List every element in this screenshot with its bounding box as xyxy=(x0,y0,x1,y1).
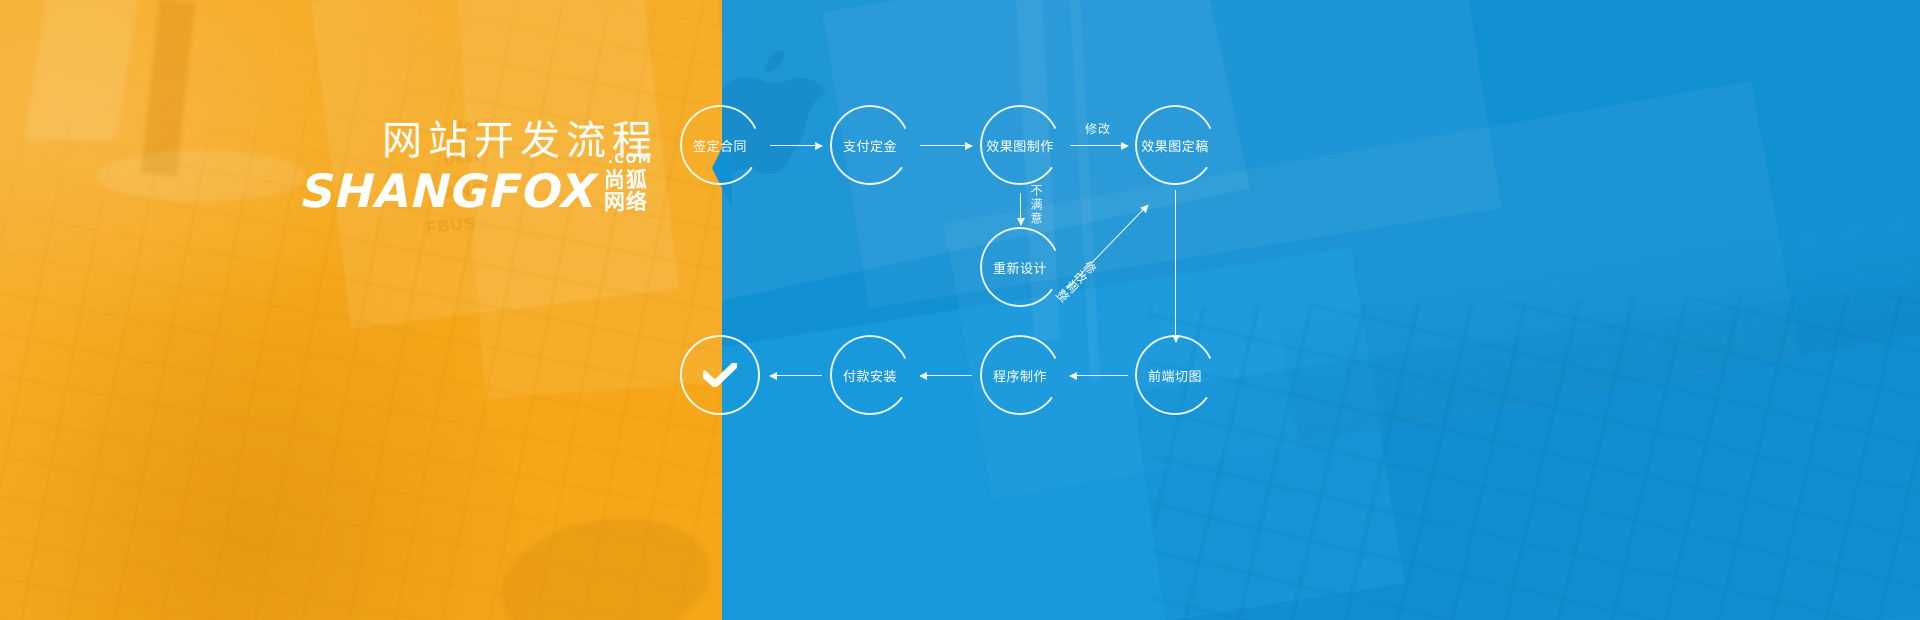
node-mockup-create[interactable]: 效果图制作 xyxy=(980,105,1060,185)
workflow-diagram: 签定合同 支付定金 效果图制作 效果图定稿 重新设计 前端切图 程序制作 xyxy=(722,0,1920,620)
node-label: 签定合同 xyxy=(693,136,747,155)
edge-label-modify: 修改 xyxy=(1085,120,1111,137)
arrow-contract-to-deposit xyxy=(770,145,822,146)
node-frontend-slice[interactable]: 前端切图 xyxy=(1135,335,1215,415)
node-label: 付款安装 xyxy=(843,366,897,385)
node-label: 重新设计 xyxy=(993,258,1047,277)
arrow-program-to-install xyxy=(920,375,972,376)
node-pay-install[interactable]: 付款安装 xyxy=(830,335,910,415)
arrow-mockup-to-final xyxy=(1070,145,1128,146)
arrow-frontend-to-program xyxy=(1070,375,1128,376)
node-sign-contract[interactable]: 签定合同 xyxy=(680,105,760,185)
node-label: 程序制作 xyxy=(993,366,1047,385)
arrow-final-to-frontend xyxy=(1175,190,1176,342)
node-pay-deposit[interactable]: 支付定金 xyxy=(830,105,910,185)
arrow-deposit-to-mockup xyxy=(920,145,972,146)
node-complete[interactable] xyxy=(680,335,760,415)
arrow-install-to-complete xyxy=(770,375,822,376)
ghost-text-0: Hot xyxy=(451,117,481,137)
node-redesign[interactable]: 重新设计 xyxy=(980,227,1060,307)
edge-label-unsatisfied: 不满意 xyxy=(1028,184,1045,226)
node-label: 前端切图 xyxy=(1148,366,1202,385)
node-label: 支付定金 xyxy=(843,136,897,155)
arrow-mockup-to-redesign xyxy=(1020,193,1021,225)
check-icon xyxy=(703,363,737,387)
node-mockup-final[interactable]: 效果图定稿 xyxy=(1135,105,1215,185)
node-program-build[interactable]: 程序制作 xyxy=(980,335,1060,415)
orange-panel: Hot Desi YANG FBUS xyxy=(0,0,722,620)
node-label: 效果图定稿 xyxy=(1141,136,1209,155)
node-label: 效果图制作 xyxy=(986,136,1054,155)
process-banner: Hot Desi YANG FBUS 网站开发流程 SHANGFOX xyxy=(0,0,1920,620)
